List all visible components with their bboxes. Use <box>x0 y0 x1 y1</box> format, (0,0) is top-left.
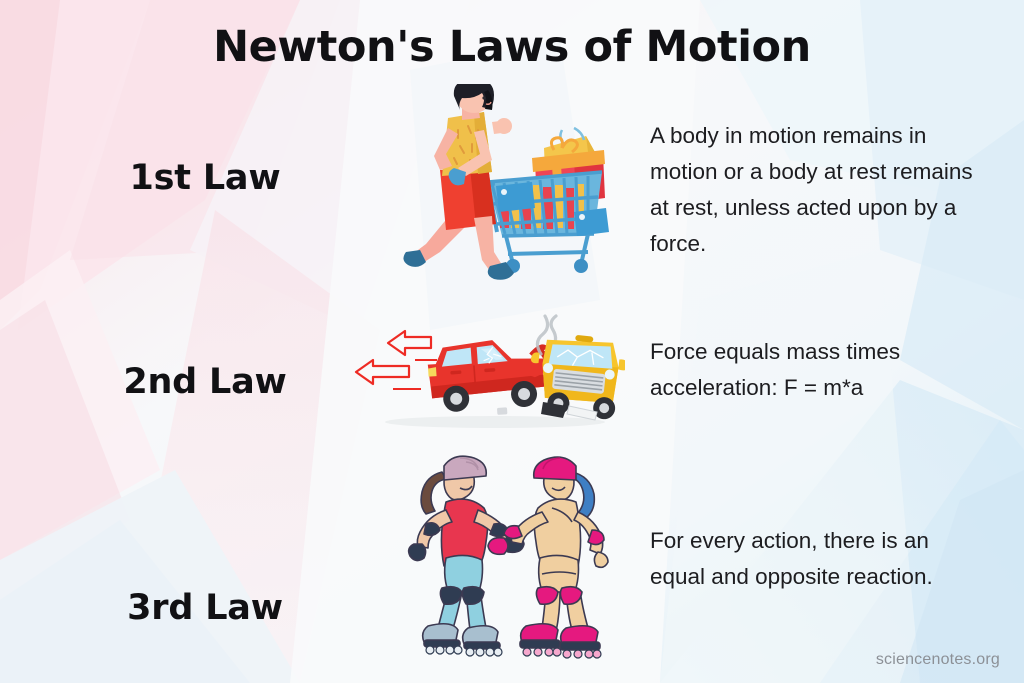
law-description-2: Force equals mass times acceleration: F … <box>650 334 990 406</box>
law-label-3: 3rd Law <box>40 588 370 628</box>
force-arrows-icon <box>356 331 437 389</box>
red-car <box>426 336 555 419</box>
skater-right-figure <box>488 457 608 658</box>
skater-left-figure <box>409 456 524 656</box>
illustration-car-collision <box>345 310 625 432</box>
newtons-laws-infographic: Newton's Laws of Motion 1st Law A body i… <box>0 0 1024 683</box>
law-label-1: 1st Law <box>40 158 370 198</box>
page-title: Newton's Laws of Motion <box>0 22 1024 72</box>
site-credit: sciencenotes.org <box>876 651 1000 669</box>
illustration-woman-pushing-shopping-cart <box>396 84 628 284</box>
law-description-1: A body in motion remains in motion or a … <box>650 118 990 262</box>
law-description-3: For every action, there is an equal and … <box>650 523 990 595</box>
illustration-roller-skaters <box>400 450 628 662</box>
law-label-2: 2nd Law <box>40 362 370 402</box>
